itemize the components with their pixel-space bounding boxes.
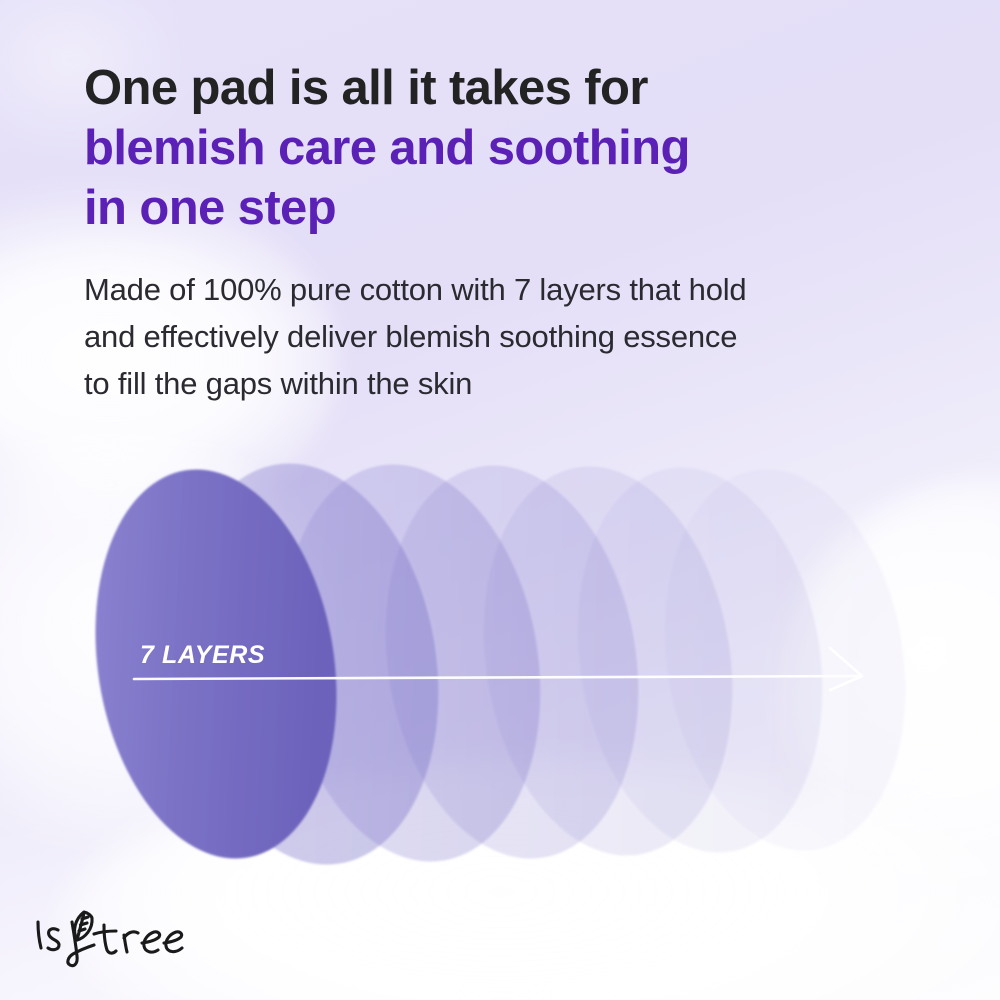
leaf-icon xyxy=(75,912,92,940)
logo-wordmark xyxy=(38,912,182,966)
seven-layer-diagram xyxy=(0,0,1000,1000)
brand-logo xyxy=(28,896,228,972)
product-infographic-poster: One pad is all it takes for blemish care… xyxy=(0,0,1000,1000)
